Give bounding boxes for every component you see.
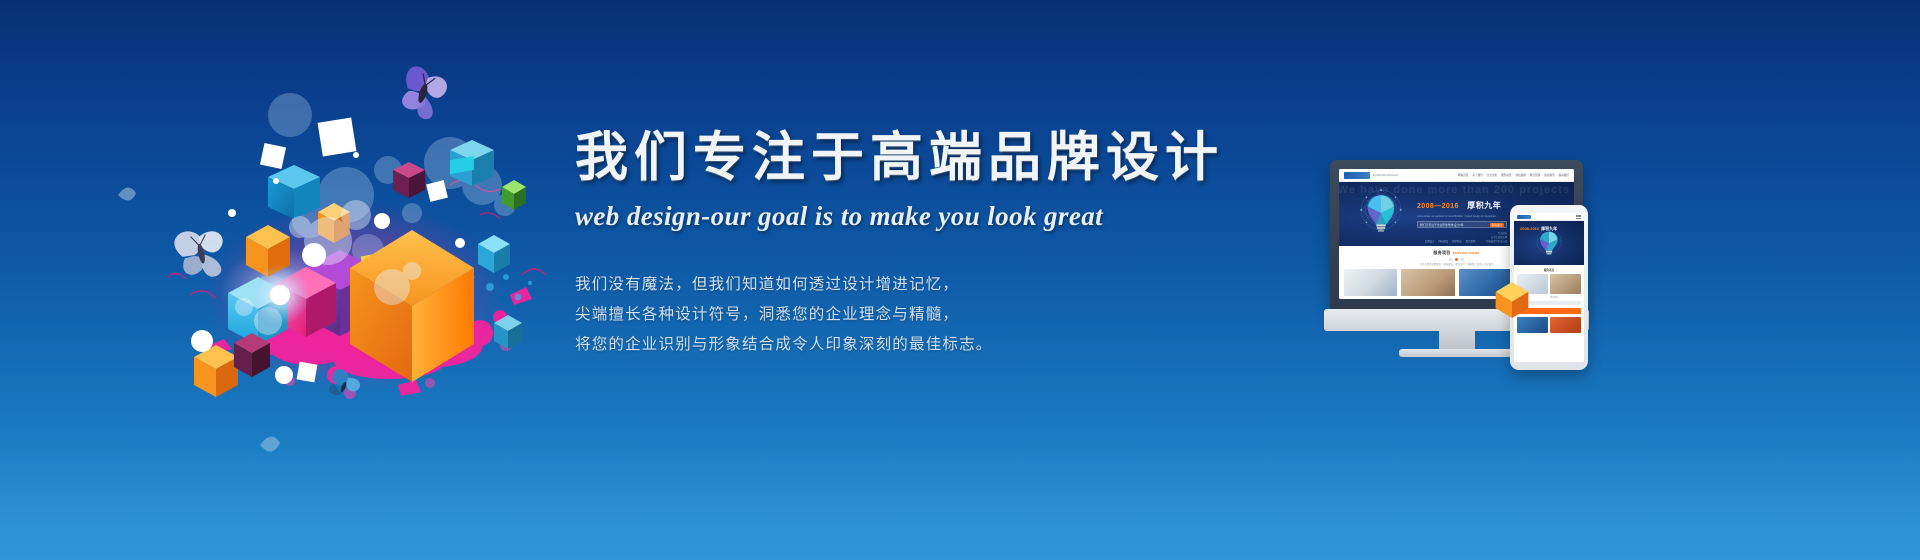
- phone-card[interactable]: [1517, 317, 1548, 333]
- hamburger-menu-icon[interactable]: [1576, 215, 1581, 219]
- hero-title: 厚积九年: [1467, 200, 1501, 211]
- phone-section-title: 服务项目: [1517, 268, 1581, 272]
- lightbulb-network-icon: [1355, 188, 1407, 240]
- menu-item[interactable]: 服务项目: [1501, 173, 1511, 177]
- phone-navbar: [1514, 213, 1584, 221]
- hero-subtitle: concentrate on website for identificatio…: [1417, 215, 1507, 218]
- phone-card[interactable]: [1550, 274, 1581, 294]
- lightbulb-network-icon-mobile: [1532, 227, 1566, 261]
- section-title-cn: 服务项目: [1433, 250, 1450, 255]
- phone-logo-icon: [1517, 215, 1531, 219]
- description-line-1: 我们没有魔法，但我们知道如何透过设计增进记忆，: [575, 270, 1195, 300]
- hero-tag[interactable]: 视觉传达: [1452, 239, 1462, 243]
- hero-tag-row: 品牌设计 网站建设 视觉传达 整合营销: [1425, 239, 1475, 243]
- hero-bar-text: 我们只专注于企业形象整体设计9年: [1420, 223, 1464, 227]
- dot-active: [1455, 258, 1458, 261]
- abstract-artwork: [150, 45, 570, 465]
- hero-banner: 我们专注于高端品牌设计 web design-our goal is to ma…: [0, 0, 1920, 560]
- phone-card-grid-2: [1517, 317, 1581, 333]
- menu-item[interactable]: 整合营销: [1530, 173, 1540, 177]
- butterfly-top: [395, 64, 450, 123]
- thumb-tablet-chart[interactable]: [1344, 269, 1397, 296]
- site-logo-icon: [1344, 172, 1370, 179]
- monitor-stand-base: [1399, 349, 1515, 357]
- phone-hero-banner: 2008-2016厚积九年: [1514, 221, 1584, 265]
- menu-item[interactable]: 关于我们: [1472, 173, 1482, 177]
- device-mockups: JIANDUAN DESIGN 网站首页 关于我们 企业文化 服务项目 成功案例…: [1330, 160, 1630, 370]
- phone-card-caption: 网站建设: [1550, 296, 1581, 299]
- hero-tag[interactable]: 品牌设计: [1425, 239, 1435, 243]
- page-title: 我们专注于高端品牌设计: [575, 128, 1195, 187]
- dot: [1461, 258, 1464, 261]
- menu-item[interactable]: 联系我们: [1559, 173, 1569, 177]
- section-title-en: SERVICE ITEMS: [1453, 251, 1480, 255]
- hero-highlight-bar: 我们只专注于企业形象整体设计9年 新锐设计: [1417, 221, 1507, 228]
- hero-text-block: 2008—2016 厚积九年 concentrate on website fo…: [1417, 195, 1507, 243]
- menu-item[interactable]: 企业文化: [1487, 173, 1497, 177]
- menu-item[interactable]: 成功案例: [1516, 173, 1526, 177]
- site-logo-text: JIANDUAN DESIGN: [1373, 174, 1398, 177]
- hero-bar-tag: 新锐设计: [1490, 223, 1504, 227]
- hero-tag[interactable]: 整合营销: [1466, 239, 1476, 243]
- thumb-pencils-desk[interactable]: [1401, 269, 1454, 296]
- monitor-stand-neck: [1439, 329, 1475, 351]
- description-line-3: 将您的企业识别与形象结合成令人印象深刻的最佳标志。: [575, 330, 1195, 360]
- site-navbar: JIANDUAN DESIGN 网站首页 关于我们 企业文化 服务项目 成功案例…: [1339, 169, 1574, 182]
- site-menu: 网站首页 关于我们 企业文化 服务项目 成功案例 整合营销 新闻资讯 联系我们: [1458, 173, 1569, 177]
- orange-cube-decoration: [1495, 282, 1529, 318]
- menu-item[interactable]: 新闻资讯: [1544, 173, 1554, 177]
- hero-tag[interactable]: 网站建设: [1439, 239, 1449, 243]
- hero-years: 2008—2016: [1417, 203, 1459, 210]
- dot: [1449, 258, 1452, 261]
- menu-item[interactable]: 网站首页: [1458, 173, 1468, 177]
- hero-copy: 我们专注于高端品牌设计 web design-our goal is to ma…: [575, 128, 1195, 360]
- description-line-2: 尖端擅长各种设计符号，洞悉您的企业理念与精髓，: [575, 300, 1195, 330]
- description-block: 我们没有魔法，但我们知道如何透过设计增进记忆， 尖端擅长各种设计符号，洞悉您的企…: [575, 270, 1195, 360]
- page-subtitle: web design-our goal is to make you look …: [575, 201, 1195, 232]
- phone-card[interactable]: [1550, 317, 1581, 333]
